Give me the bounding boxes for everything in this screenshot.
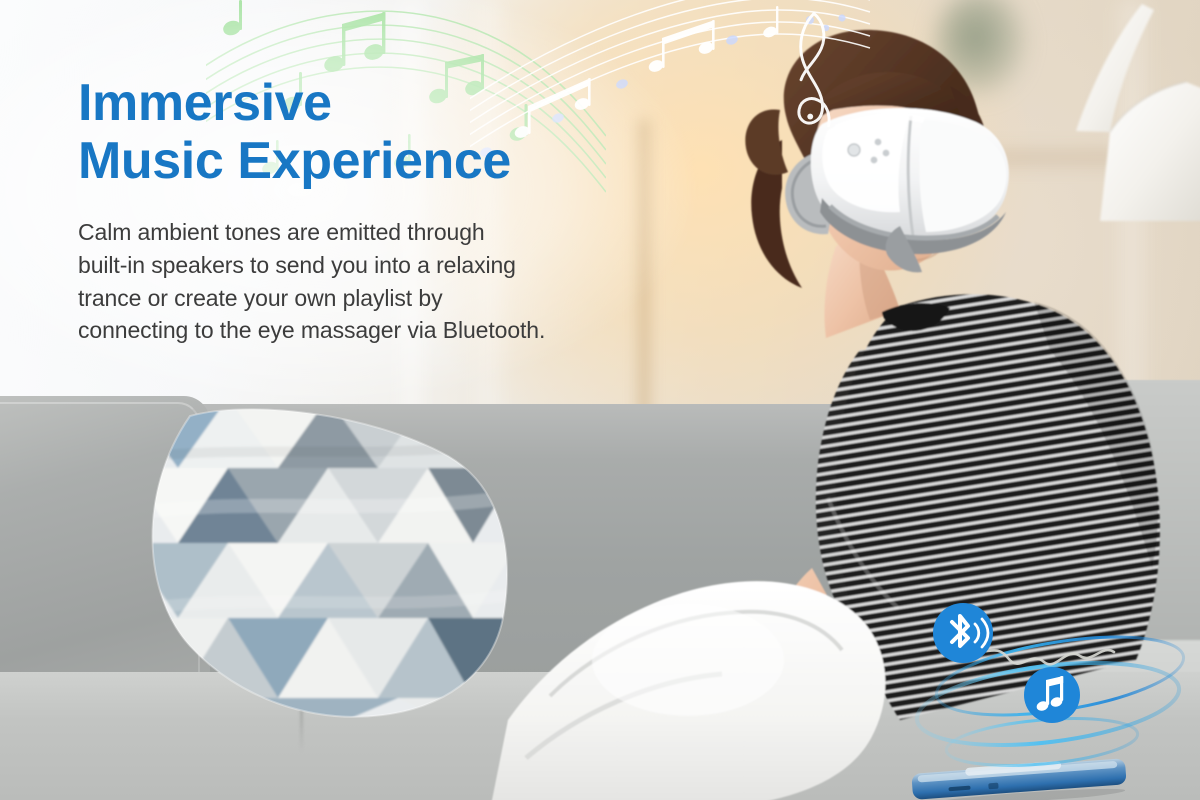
bluetooth-music-orbit-graphic	[890, 600, 1200, 800]
page-title: Immersive Music Experience	[78, 74, 678, 190]
bluetooth-badge	[933, 603, 993, 663]
body-description: Calm ambient tones are emitted through b…	[78, 216, 618, 347]
promo-banner: Immersive Music Experience Calm ambient …	[0, 0, 1200, 800]
music-badge	[1024, 667, 1080, 723]
copy-block: Immersive Music Experience Calm ambient …	[78, 74, 678, 347]
